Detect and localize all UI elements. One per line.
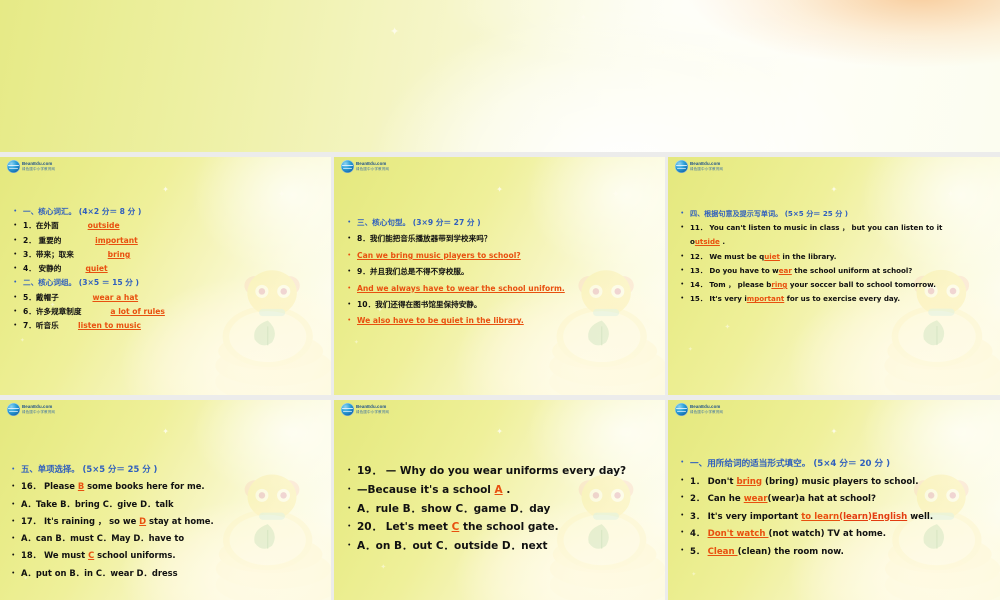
logo-title: BeanEdu.com xyxy=(22,162,55,166)
bullet-icon: • xyxy=(14,276,23,290)
logo: BeanEdu.com 绿色圃中小学教育网 xyxy=(341,403,389,416)
slide-bullet-line: •3． It's very important to learn(learn)E… xyxy=(681,508,999,526)
slide-bullet-line: •4． 安静的 quiet xyxy=(14,262,324,276)
slide-content: •四、根据句意及提示写单词。 (5×5 分＝ 25 分 )•11． You ca… xyxy=(681,207,999,306)
slide-bullet-line: •5． Clean (clean) the room now. xyxy=(681,543,999,561)
slide-line-text: 5．戴帽子 wear a hat xyxy=(23,291,138,305)
answer-text: (learn)English xyxy=(839,512,907,522)
slide-bullet-line: •—Because it's a school A . xyxy=(348,481,664,500)
sparkle-icon: ✦ xyxy=(496,428,503,436)
bullet-icon: • xyxy=(348,297,357,313)
body-text: A．put on B．in C．wear D．dress xyxy=(21,568,178,578)
slide-line-text: 一、用所给词的适当形式填空。 (5×4 分＝ 20 分 ) xyxy=(690,455,890,473)
slide-bullet-line: •7．听音乐 listen to music xyxy=(14,319,324,333)
body-text: 16． Please xyxy=(21,481,78,491)
slide-line-text: 二、核心词组。 (3×5 ＝ 15 分 ) xyxy=(23,276,139,290)
sparkle-icon: ✦ xyxy=(162,186,169,194)
bullet-icon: • xyxy=(681,490,690,507)
body-text: well. xyxy=(907,512,933,522)
bullet-icon: • xyxy=(348,313,357,329)
body-text: 6．许多规章制度 xyxy=(23,307,81,316)
sparkle-icon: ✦ xyxy=(20,338,25,344)
body-text: A．can B．must C．May D．have to xyxy=(21,533,184,543)
body-text: stay at home. xyxy=(146,516,214,526)
bullet-icon: • xyxy=(681,250,690,264)
sparkle-icon: ✦ xyxy=(496,186,503,194)
slide-line-text: 3． It's very important to learn(learn)En… xyxy=(690,508,933,526)
bullet-icon: • xyxy=(12,547,21,564)
sparkle-icon: ✦ xyxy=(691,572,696,578)
bullet-icon: • xyxy=(348,281,357,297)
body-text: 4． 安静的 xyxy=(23,264,61,273)
globe-icon xyxy=(7,403,20,416)
body-text: A．rule B．show C．game D．day xyxy=(357,503,550,515)
logo-subtitle: 绿色圃中小学教育网 xyxy=(690,168,723,171)
slide-line-text: 7．听音乐 listen to music xyxy=(23,319,141,333)
answer-text: utside xyxy=(695,237,720,246)
globe-icon xyxy=(341,160,354,173)
sparkle-icon: ✦ xyxy=(724,324,730,331)
slide-thumbnail-1[interactable]: ✦ ✦ ✦ ✦ xyxy=(0,157,331,395)
body-text: 4． xyxy=(690,529,708,539)
slide-bullet-line: •一、核心词汇。 (4×2 分＝ 8 分 ) xyxy=(14,205,324,219)
slide-bullet-line: •11． You can't listen to music in class … xyxy=(681,221,999,235)
slide-bullet-line: •8．我们能把音乐播放器带到学校来吗？ xyxy=(348,231,660,247)
answer-text: to learn xyxy=(801,512,839,522)
bullet-icon: • xyxy=(348,215,357,231)
slide-bullet-line: •2． 重要的 important xyxy=(14,234,324,248)
answer-text: bring xyxy=(736,477,762,487)
body-text: A．on B．out C．outside D．next xyxy=(357,540,548,552)
logo-subtitle: 绿色圃中小学教育网 xyxy=(22,168,55,171)
slide-content: •一、核心词汇。 (4×2 分＝ 8 分 )•1．在外面 outside•2． … xyxy=(14,205,324,334)
bullet-icon: • xyxy=(681,455,690,472)
section-heading: (3×5 ＝ 15 分 ) xyxy=(76,278,139,287)
body-text: 11． You can't listen to music in class ，… xyxy=(690,223,942,232)
slide-bullet-line: •6．许多规章制度 a lot of rules xyxy=(14,305,324,319)
bullet-icon: • xyxy=(681,525,690,542)
bullet-icon: • xyxy=(348,500,357,519)
answer-text: ring xyxy=(771,280,787,289)
answer-text: Clean xyxy=(708,547,738,557)
body-text: 12． We must be q xyxy=(690,252,764,261)
slide-line-text: 2． Can he wear(wear)a hat at school? xyxy=(690,490,876,508)
answer-text: listen to music xyxy=(78,321,141,330)
slide-line-text: 10．我们还得在图书馆里保持安静。 xyxy=(357,297,481,313)
slide-bullet-line: •A．on B．out C．outside D．next xyxy=(348,537,664,556)
answer-text: mportant xyxy=(747,294,784,303)
body-text: (bring) music players to school. xyxy=(762,477,918,487)
slide-line-text: A．can B．must C．May D．have to xyxy=(21,530,184,547)
bullet-icon: • xyxy=(681,543,690,560)
bullet-icon: • xyxy=(12,496,21,513)
slide-line-text: 16． Please B some books here for me. xyxy=(21,478,205,495)
section-heading: 五、单项选择。 xyxy=(21,464,80,474)
body-text: 20． Let's meet xyxy=(357,521,452,533)
answer-text: We also have to be quiet in the library. xyxy=(357,316,524,325)
answer-text: important xyxy=(95,236,138,245)
slide-bullet-line: •4． Don't watch (not watch) TV at home. xyxy=(681,525,999,543)
section-heading: 二、核心词组。 xyxy=(23,278,76,287)
slide-line-text: 1．在外面 outside xyxy=(23,219,120,233)
body-text: . xyxy=(503,484,511,496)
slide-bullet-line: •10．我们还得在图书馆里保持安静。 xyxy=(348,297,660,313)
body-text: 5． xyxy=(690,547,708,557)
globe-icon xyxy=(675,160,688,173)
body-text xyxy=(59,291,93,305)
slide-line-text: 18． We must C school uniforms. xyxy=(21,547,176,564)
slide-line-text: A．put on B．in C．wear D．dress xyxy=(21,565,178,582)
bullet-icon: • xyxy=(681,278,690,292)
body-text: . xyxy=(720,237,725,246)
sparkle-icon: ✦ xyxy=(831,186,838,194)
slide-line-text: 一、核心词汇。 (4×2 分＝ 8 分 ) xyxy=(23,205,141,219)
logo-title: BeanEdu.com xyxy=(356,405,389,409)
slide-line-text: —Because it's a school A . xyxy=(357,481,510,500)
body-text: 5．戴帽子 xyxy=(23,293,59,302)
bullet-icon: • xyxy=(14,305,23,319)
slide-content: •一、用所给词的适当形式填空。 (5×4 分＝ 20 分 )•1． Don't … xyxy=(681,455,999,560)
sparkle-icon: ✦ xyxy=(162,428,169,436)
slide-line-text: 5． Clean (clean) the room now. xyxy=(690,543,844,561)
slide-thumbnail-6[interactable]: ✦ ✦ ✦ xyxy=(668,400,1000,600)
slide-line-text: A．rule B．show C．game D．day xyxy=(357,500,550,519)
body-text: 9．并且我们总是不得不穿校服。 xyxy=(357,267,469,276)
bullet-icon: • xyxy=(681,292,690,306)
globe-icon xyxy=(7,160,20,173)
slide-line-text: 9．并且我们总是不得不穿校服。 xyxy=(357,264,469,280)
body-text: 7．听音乐 xyxy=(23,321,59,330)
slide-bullet-line: •二、核心词组。 (3×5 ＝ 15 分 ) xyxy=(14,276,324,290)
slide-line-text: A．Take B．bring C．give D．talk xyxy=(21,496,174,513)
slide-line-text: 20． Let's meet C the school gate. xyxy=(357,518,559,537)
slide-bullet-line: •14． Tom ， please bring your soccer ball… xyxy=(681,278,999,292)
logo-title: BeanEdu.com xyxy=(356,162,389,166)
sparkle-icon: ✦ xyxy=(688,347,693,353)
slide-line-text: And we always have to wear the school un… xyxy=(357,281,565,297)
section-heading: 四、根据句意及提示写单词。 xyxy=(690,209,782,218)
sparkle-icon: ✦ xyxy=(960,436,968,445)
body-text: 3． It's very important xyxy=(690,512,801,522)
logo: BeanEdu.com 绿色圃中小学教育网 xyxy=(7,160,55,173)
logo-title: BeanEdu.com xyxy=(22,405,55,409)
body-text xyxy=(74,248,108,262)
bullet-icon: • xyxy=(681,508,690,525)
slide-bullet-line: •1．在外面 outside xyxy=(14,219,324,233)
sparkle-icon: ✦ xyxy=(288,436,296,445)
bullet-icon: • xyxy=(12,565,21,582)
body-text xyxy=(59,319,78,333)
slide-bullet-line: •18． We must C school uniforms. xyxy=(12,547,330,564)
slide-line-text: 13． Do you have to wear the school unifo… xyxy=(690,264,912,278)
slide-line-text: 8．我们能把音乐播放器带到学校来吗？ xyxy=(357,231,491,247)
body-text: 1． Don't xyxy=(690,477,736,487)
answer-text: wear a hat xyxy=(92,293,138,302)
handout-page: ✦ ✦ ✦ ✦ ✦ ✦ ✦ xyxy=(0,0,1000,600)
slide-bullet-line: •2． Can he wear(wear)a hat at school? xyxy=(681,490,999,508)
sparkle-icon: ✦ xyxy=(947,190,955,199)
slide-bullet-line: •12． We must be quiet in the library. xyxy=(681,250,999,264)
body-text: school uniforms. xyxy=(94,550,175,560)
logo: BeanEdu.com 绿色圃中小学教育网 xyxy=(675,160,723,173)
slide-bullet-line: outside . xyxy=(681,235,999,249)
bullet-icon: • xyxy=(14,219,23,233)
body-text: 15． It's very i xyxy=(690,294,747,303)
slide-line-text: 6．许多规章制度 a lot of rules xyxy=(23,305,165,319)
sparkle-icon: ✦ xyxy=(831,428,838,436)
answer-text: quiet xyxy=(85,264,107,273)
body-text: (clean) the room now. xyxy=(738,547,844,557)
body-text: 18． We must xyxy=(21,550,88,560)
section-heading: 一、用所给词的适当形式填空。 xyxy=(690,459,810,469)
sparkle-icon: ✦ xyxy=(580,14,587,22)
answer-text: ear xyxy=(779,266,792,275)
slide-thumbnail-5[interactable]: ✦ ✦ ✦ xyxy=(334,400,665,600)
bullet-icon: • xyxy=(681,473,690,490)
sparkle-icon: ✦ xyxy=(380,564,386,571)
slide-bullet-line: •四、根据句意及提示写单词。 (5×5 分＝ 25 分 ) xyxy=(681,207,999,221)
slide-line-text: 五、单项选择。 (5×5 分＝ 25 分 ) xyxy=(21,461,157,478)
bullet-icon: • xyxy=(12,530,21,547)
body-text: the school uniform at school? xyxy=(792,266,913,275)
globe-icon xyxy=(341,403,354,416)
sparkle-icon: ✦ xyxy=(612,190,620,199)
section-heading: (5×5 分＝ 25 分 ) xyxy=(80,464,158,474)
body-text: —Because it's a school xyxy=(357,484,495,496)
sparkle-icon: ✦ xyxy=(354,340,359,346)
body-text: your soccer ball to school tomorrow. xyxy=(787,280,936,289)
slide-line-text: 3．带来；取来 bring xyxy=(23,248,130,262)
body-text xyxy=(81,305,110,319)
slide-thumbnail-2[interactable]: ✦ ✦ ✦ ✦ xyxy=(334,157,665,395)
section-heading: (4×2 分＝ 8 分 ) xyxy=(76,207,141,216)
slide-line-text: 15． It's very important for us to exerci… xyxy=(690,292,900,306)
slide-content: •19． — Why do you wear uniforms every da… xyxy=(348,462,664,556)
slide-line-text: outside . xyxy=(690,235,725,249)
slide-line-text: 14． Tom ， please bring your soccer ball … xyxy=(690,278,936,292)
logo-subtitle: 绿色圃中小学教育网 xyxy=(22,411,55,414)
bullet-icon: • xyxy=(12,461,21,478)
slide-bullet-line: •20． Let's meet C the school gate. xyxy=(348,518,664,537)
body-text: some books here for me. xyxy=(84,481,204,491)
bullet-icon: • xyxy=(348,231,357,247)
section-heading: (3×9 分＝ 27 分 ) xyxy=(410,218,480,227)
bullet-icon: • xyxy=(348,462,357,481)
body-text: 19． — Why do you wear uniforms every day… xyxy=(357,465,626,477)
answer-text: outside xyxy=(88,221,120,230)
bullet-icon: • xyxy=(348,248,357,264)
section-heading: 一、核心词汇。 xyxy=(23,207,76,216)
globe-icon xyxy=(675,403,688,416)
body-text xyxy=(61,234,95,248)
bullet-icon: • xyxy=(14,291,23,305)
logo-title: BeanEdu.com xyxy=(690,405,723,409)
sparkle-icon: ✦ xyxy=(278,190,286,199)
logo-title: BeanEdu.com xyxy=(690,162,723,166)
body-text: 10．我们还得在图书馆里保持安静。 xyxy=(357,300,481,309)
section-heading: 三、核心句型。 xyxy=(357,218,410,227)
bullet-icon: • xyxy=(348,481,357,500)
bullet-icon: • xyxy=(348,518,357,537)
body-text: in the library. xyxy=(780,252,837,261)
logo: BeanEdu.com 绿色圃中小学教育网 xyxy=(341,160,389,173)
logo-subtitle: 绿色圃中小学教育网 xyxy=(356,411,389,414)
slide-line-text: 2． 重要的 important xyxy=(23,234,138,248)
slide-bullet-line: •16． Please B some books here for me. xyxy=(12,478,330,495)
logo: BeanEdu.com 绿色圃中小学教育网 xyxy=(7,403,55,416)
body-text: 13． Do you have to w xyxy=(690,266,779,275)
slide-line-text: 17． It's raining ， so we D stay at home. xyxy=(21,513,214,530)
slide-bullet-line: •A．can B．must C．May D．have to xyxy=(12,530,330,547)
bullet-icon: • xyxy=(348,537,357,556)
answer-text: wear xyxy=(744,494,768,504)
slide-line-text: We also have to be quiet in the library. xyxy=(357,313,524,329)
slide-bullet-line: •3．带来；取来 bring xyxy=(14,248,324,262)
bullet-icon: • xyxy=(14,319,23,333)
bullet-icon: • xyxy=(681,264,690,278)
slide-line-text: 三、核心句型。 (3×9 分＝ 27 分 ) xyxy=(357,215,481,231)
slide-thumbnail-3[interactable]: ✦ ✦ ✦ ✦ xyxy=(668,157,1000,395)
logo-subtitle: 绿色圃中小学教育网 xyxy=(356,168,389,171)
slide-line-text: 11． You can't listen to music in class ，… xyxy=(690,221,942,235)
slide-thumbnail-4[interactable]: ✦ ✦ ✦ xyxy=(0,400,331,600)
bullet-icon: • xyxy=(681,207,690,221)
bullet-icon: • xyxy=(348,264,357,280)
section-heading: (5×5 分＝ 25 分 ) xyxy=(782,209,848,218)
answer-text: a lot of rules xyxy=(110,307,164,316)
bullet-icon: • xyxy=(14,234,23,248)
slide-line-text: 1． Don't bring (bring) music players to … xyxy=(690,473,918,491)
slide-content: •五、单项选择。 (5×5 分＝ 25 分 )•16． Please B som… xyxy=(12,461,330,582)
bullet-icon: • xyxy=(14,262,23,276)
answer-text: Don't watch xyxy=(708,529,769,539)
slide-line-text: A．on B．out C．outside D．next xyxy=(357,537,548,556)
title-slide-banner[interactable]: ✦ ✦ ✦ xyxy=(0,0,1000,152)
answer-text: And we always have to wear the school un… xyxy=(357,284,565,293)
slide-content: •三、核心句型。 (3×9 分＝ 27 分 )•8．我们能把音乐播放器带到学校来… xyxy=(348,215,660,330)
slide-bullet-line: •五、单项选择。 (5×5 分＝ 25 分 ) xyxy=(12,461,330,478)
slide-line-text: 19． — Why do you wear uniforms every day… xyxy=(357,462,626,481)
slide-bullet-line: •9．并且我们总是不得不穿校服。 xyxy=(348,264,660,280)
bullet-icon: • xyxy=(681,221,690,235)
slide-line-text: 4． Don't watch (not watch) TV at home. xyxy=(690,525,886,543)
body-text xyxy=(59,219,88,233)
sparkle-icon: ✦ xyxy=(660,50,666,57)
answer-text: A xyxy=(495,484,503,496)
slide-bullet-line: •A．rule B．show C．game D．day xyxy=(348,500,664,519)
bullet-icon: • xyxy=(14,205,23,219)
slide-line-text: Can we bring music players to school? xyxy=(357,248,521,264)
body-text: 8．我们能把音乐播放器带到学校来吗？ xyxy=(357,234,491,243)
answer-text: Can we bring music players to school? xyxy=(357,251,521,260)
slide-bullet-line: •三、核心句型。 (3×9 分＝ 27 分 ) xyxy=(348,215,660,231)
logo-subtitle: 绿色圃中小学教育网 xyxy=(690,411,723,414)
slide-line-text: 四、根据句意及提示写单词。 (5×5 分＝ 25 分 ) xyxy=(690,207,848,221)
body-text: 3．带来；取来 xyxy=(23,250,74,259)
slide-bullet-line: •一、用所给词的适当形式填空。 (5×4 分＝ 20 分 ) xyxy=(681,455,999,473)
slide-bullet-line: •We also have to be quiet in the library… xyxy=(348,313,660,329)
body-text: (wear)a hat at school? xyxy=(768,494,876,504)
sparkle-icon: ✦ xyxy=(625,436,633,445)
slide-bullet-line: •A．Take B．bring C．give D．talk xyxy=(12,496,330,513)
bullet-icon: • xyxy=(14,248,23,262)
bullet-icon: • xyxy=(12,513,21,530)
answer-text: bring xyxy=(108,250,131,259)
slide-bullet-line: •1． Don't bring (bring) music players to… xyxy=(681,473,999,491)
slide-bullet-line: •5．戴帽子 wear a hat xyxy=(14,291,324,305)
body-text: 14． Tom ， please b xyxy=(690,280,771,289)
bullet-icon: • xyxy=(12,478,21,495)
slide-bullet-line: •19． — Why do you wear uniforms every da… xyxy=(348,462,664,481)
slide-bullet-line: •A．put on B．in C．wear D．dress xyxy=(12,565,330,582)
body-text: the school gate. xyxy=(459,521,558,533)
body-text: 1．在外面 xyxy=(23,221,59,230)
slide-bullet-line: •15． It's very important for us to exerc… xyxy=(681,292,999,306)
body-text: 2． Can he xyxy=(690,494,744,504)
body-text: for us to exercise every day. xyxy=(784,294,900,303)
slide-line-text: 4． 安静的 quiet xyxy=(23,262,108,276)
sparkle-icon: ✦ xyxy=(390,27,399,38)
answer-text: uiet xyxy=(764,252,780,261)
slide-bullet-line: •And we always have to wear the school u… xyxy=(348,281,660,297)
body-text: 17． It's raining ， so we xyxy=(21,516,139,526)
slide-bullet-line: •Can we bring music players to school? xyxy=(348,248,660,264)
body-text: (not watch) TV at home. xyxy=(769,529,887,539)
slide-line-text: 12． We must be quiet in the library. xyxy=(690,250,836,264)
body-text: A．Take B．bring C．give D．talk xyxy=(21,499,174,509)
section-heading: (5×4 分＝ 20 分 ) xyxy=(810,459,890,469)
body-text: 2． 重要的 xyxy=(23,236,61,245)
logo: BeanEdu.com 绿色圃中小学教育网 xyxy=(675,403,723,416)
slide-bullet-line: •13． Do you have to wear the school unif… xyxy=(681,264,999,278)
slide-bullet-line: •17． It's raining ， so we D stay at home… xyxy=(12,513,330,530)
body-text xyxy=(61,262,85,276)
